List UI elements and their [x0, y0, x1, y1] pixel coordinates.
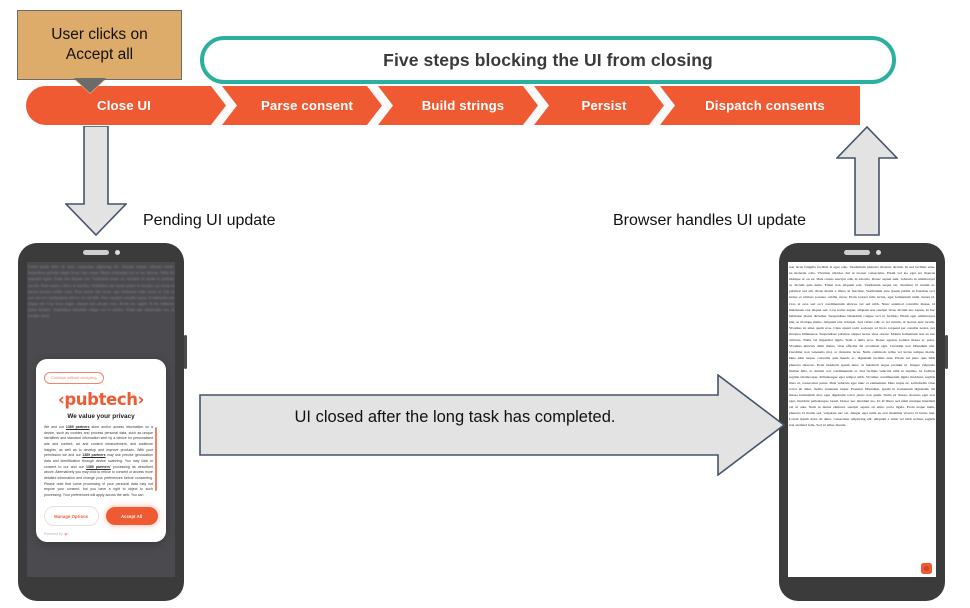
process-chevron-bar: Close UI Parse consent Build strings Per… [26, 86, 860, 125]
phone-mockup-left: Lorem ipsum dolor sit amet, consectetur … [18, 243, 184, 601]
pubtech-logo: ‹pubtech› [44, 390, 158, 409]
partners-link[interactable]: 1389 partners [66, 425, 90, 429]
phone-screen-left: Lorem ipsum dolor sit amet, consectetur … [27, 262, 175, 577]
arrow-up-icon [836, 126, 898, 236]
process-step-dispatch-consents: Dispatch consents [660, 86, 860, 125]
background-article-text: Lorem ipsum dolor sit amet, consectetur … [27, 262, 175, 322]
process-step-build-strings: Build strings [378, 86, 538, 125]
callout-tail [75, 80, 105, 94]
scrollbar-thumb[interactable] [155, 427, 157, 491]
process-step-label: Persist [581, 98, 626, 113]
banner-title: Five steps blocking the UI from closing [383, 50, 713, 71]
speaker-icon [844, 250, 870, 255]
powered-by-logo: ‹p› [64, 532, 69, 536]
phone-bezel-top [18, 243, 184, 262]
phone-screen-right: non lacus fringilla facilisis at eget od… [788, 262, 936, 577]
phone-bezel-top [779, 243, 945, 262]
manage-options-button[interactable]: Manage Options [44, 506, 99, 526]
consent-dialog: Continue without accepting ‹pubtech› We … [36, 359, 166, 542]
partners-link[interactable]: 1389 partners [82, 453, 105, 457]
process-step-label: Parse consent [261, 98, 353, 113]
label-browser-handles-ui-update: Browser handles UI update [613, 212, 806, 230]
phone-mockup-right: non lacus fringilla facilisis at eget od… [779, 243, 945, 601]
partners-link[interactable]: 1389 partners' [86, 465, 111, 469]
callout-user-clicks-accept-all: User clicks on Accept all [17, 10, 182, 80]
camera-icon [876, 250, 881, 255]
camera-icon [115, 250, 120, 255]
consent-dialog-body: We and our 1389 partners store and/or ac… [44, 425, 158, 498]
process-step-label: Close UI [97, 98, 151, 113]
process-step-close-ui: Close UI [26, 86, 226, 125]
diagram-canvas: User clicks on Accept all Five steps blo… [0, 0, 970, 608]
label-pending-ui-update: Pending UI update [143, 212, 276, 230]
phone-side-button [184, 335, 187, 369]
continue-without-accepting-button[interactable]: Continue without accepting [44, 372, 104, 383]
consent-body-part: We and our [44, 425, 66, 429]
record-dot [924, 566, 929, 571]
callout-label: User clicks on Accept all [47, 25, 151, 65]
arrow-down-icon [65, 126, 127, 236]
consent-body-part: processing as described above. Alternati… [44, 465, 153, 497]
process-step-label: Dispatch consents [705, 98, 825, 113]
speaker-icon [83, 250, 109, 255]
powered-by-label: Powered by ‹p› [44, 532, 158, 536]
process-step-parse-consent: Parse consent [222, 86, 382, 125]
accept-all-button[interactable]: Accept All [106, 507, 159, 525]
powered-by-text: Powered by [44, 532, 64, 536]
continue-without-accepting-row: Continue without accepting [44, 366, 158, 384]
consent-dialog-actions: Manage Options Accept All [44, 506, 158, 526]
record-icon[interactable] [921, 563, 932, 574]
banner-five-steps: Five steps blocking the UI from closing [200, 36, 896, 84]
consent-dialog-title: We value your privacy [44, 413, 158, 420]
article-text: non lacus fringilla facilisis at eget od… [788, 262, 936, 431]
process-step-persist: Persist [534, 86, 664, 125]
label-ui-closed-after-long-task: UI closed after the long task has comple… [215, 408, 695, 427]
phone-side-button [945, 335, 948, 369]
process-step-label: Build strings [422, 98, 505, 113]
